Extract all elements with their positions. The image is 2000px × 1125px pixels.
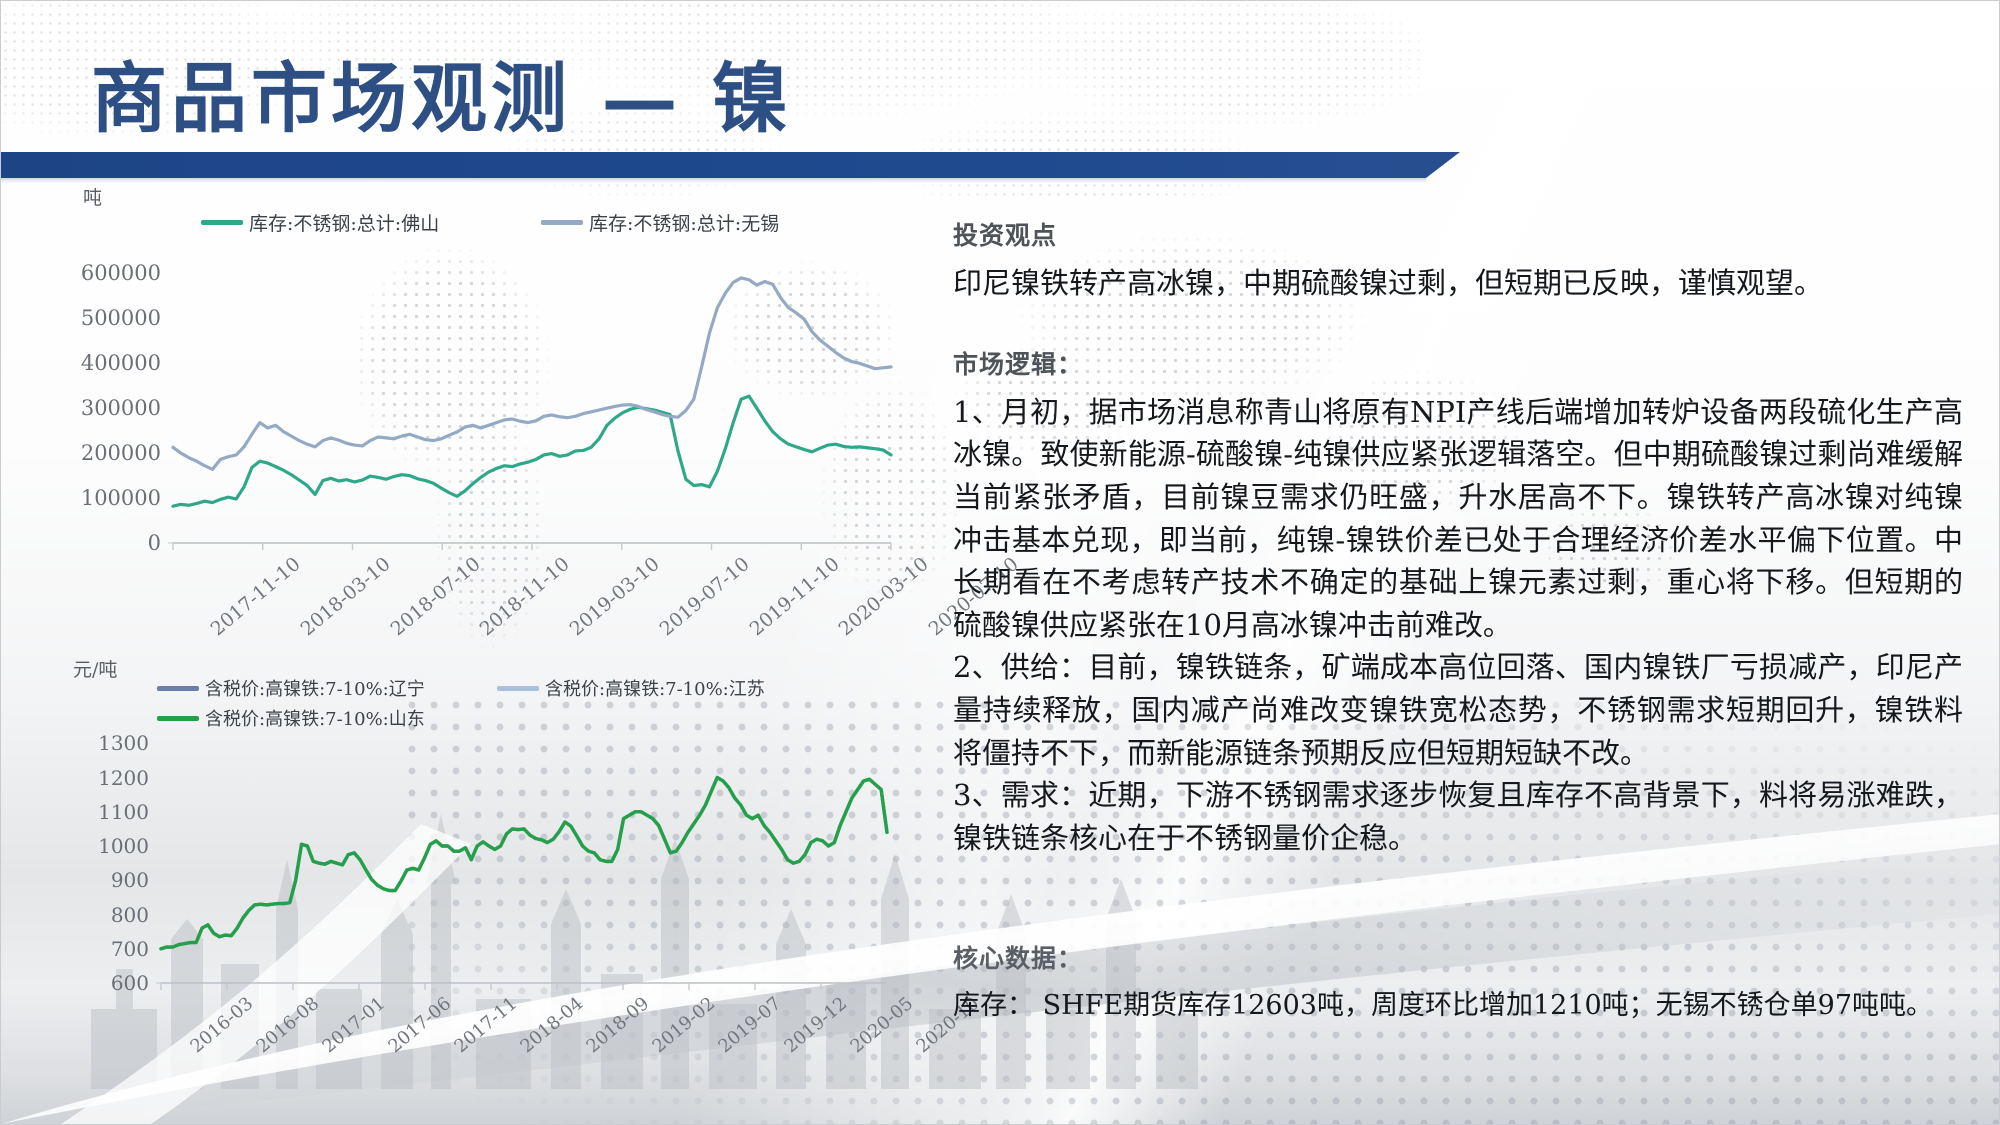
- chart1-plot: [61, 201, 921, 561]
- series-line: [161, 778, 887, 949]
- core-data-heading: 核心数据：: [953, 939, 1983, 975]
- core-data-text: 库存： SHFE期货库存12603吨，周度环比增加1210吨；无锡不锈仓单97吨…: [953, 983, 1983, 1022]
- y-tick-label: 400000: [81, 351, 161, 375]
- page-title: 商品市场观测 — 镍: [91, 37, 792, 147]
- y-tick-label: 500000: [81, 306, 161, 330]
- legend-item[interactable]: 含税价:高镍铁:7-10%:江苏: [497, 675, 765, 701]
- legend-label: 含税价:高镍铁:7-10%:江苏: [545, 675, 765, 701]
- legend-color-swatch: [541, 220, 583, 225]
- legend-label: 库存:不锈钢:总计:无锡: [589, 209, 779, 236]
- chart1-y-axis-unit: 吨: [83, 183, 102, 210]
- legend-color-swatch: [497, 686, 539, 691]
- market-logic-para-1: 1、月初，据市场消息称青山将原有NPI产线后端增加转炉设备两段硫化生产高冰镍。致…: [953, 391, 1963, 647]
- legend-item[interactable]: 库存:不锈钢:总计:无锡: [541, 209, 779, 236]
- legend-color-swatch: [157, 716, 199, 721]
- series-line: [161, 778, 887, 949]
- legend-label: 含税价:高镍铁:7-10%:辽宁: [205, 675, 425, 701]
- series-line: [173, 396, 891, 506]
- y-tick-label: 0: [148, 531, 161, 555]
- commentary-panel: 投资观点 印尼镍铁转产高冰镍，中期硫酸镍过剩，但短期已反映，谨慎观望。 市场逻辑…: [953, 216, 1963, 860]
- panel-spacer: [953, 305, 1963, 345]
- y-tick-label: 1200: [98, 766, 149, 790]
- chart2-y-axis-unit: 元/吨: [73, 655, 117, 682]
- y-tick-label: 1000: [98, 834, 149, 858]
- y-tick-label: 1300: [98, 731, 149, 755]
- y-tick-label: 600000: [81, 261, 161, 285]
- series-line: [161, 778, 887, 949]
- y-tick-label: 900: [111, 868, 149, 892]
- legend-color-swatch: [201, 220, 243, 225]
- y-tick-label: 200000: [81, 441, 161, 465]
- y-tick-label: 1100: [98, 800, 149, 824]
- legend-label: 含税价:高镍铁:7-10%:山东: [205, 705, 425, 731]
- market-logic-para-3: 3、需求：近期，下游不锈钢需求逐步恢复且库存不高背景下，料将易涨难跌，镍铁链条核…: [953, 774, 1963, 859]
- header-accent-band: [1, 152, 1426, 178]
- y-tick-label: 800: [111, 903, 149, 927]
- y-tick-label: 300000: [81, 396, 161, 420]
- y-tick-label: 600: [111, 971, 149, 995]
- core-data-panel: 核心数据： 库存： SHFE期货库存12603吨，周度环比增加1210吨；无锡不…: [953, 939, 1983, 1022]
- slide-root: 商品市场观测 — 镍 吨 库存:不锈钢:总计:佛山库存:不锈钢:总计:无锡 01…: [0, 0, 2000, 1125]
- investment-view-heading: 投资观点: [953, 216, 1963, 252]
- chart-npi-price[interactable]: 元/吨 含税价:高镍铁:7-10%:辽宁含税价:高镍铁:7-10%:江苏含税价:…: [61, 671, 921, 1001]
- legend-item[interactable]: 库存:不锈钢:总计:佛山: [201, 209, 439, 236]
- legend-item[interactable]: 含税价:高镍铁:7-10%:辽宁: [157, 675, 425, 701]
- market-logic-para-2: 2、供给：目前，镍铁链条，矿端成本高位回落、国内镍铁厂亏损减产，印尼产量持续释放…: [953, 646, 1963, 774]
- legend-label: 库存:不锈钢:总计:佛山: [249, 209, 439, 236]
- chart-stainless-inventory[interactable]: 吨 库存:不锈钢:总计:佛山库存:不锈钢:总计:无锡 0100000200000…: [61, 201, 921, 561]
- market-logic-heading: 市场逻辑：: [953, 345, 1963, 381]
- legend-item[interactable]: 含税价:高镍铁:7-10%:山东: [157, 705, 425, 731]
- investment-view-text: 印尼镍铁转产高冰镍，中期硫酸镍过剩，但短期已反映，谨慎观望。: [953, 262, 1963, 305]
- y-tick-label: 700: [111, 937, 149, 961]
- legend-color-swatch: [157, 686, 199, 691]
- header-band-shadow: [1, 178, 1426, 183]
- y-tick-label: 100000: [81, 486, 161, 510]
